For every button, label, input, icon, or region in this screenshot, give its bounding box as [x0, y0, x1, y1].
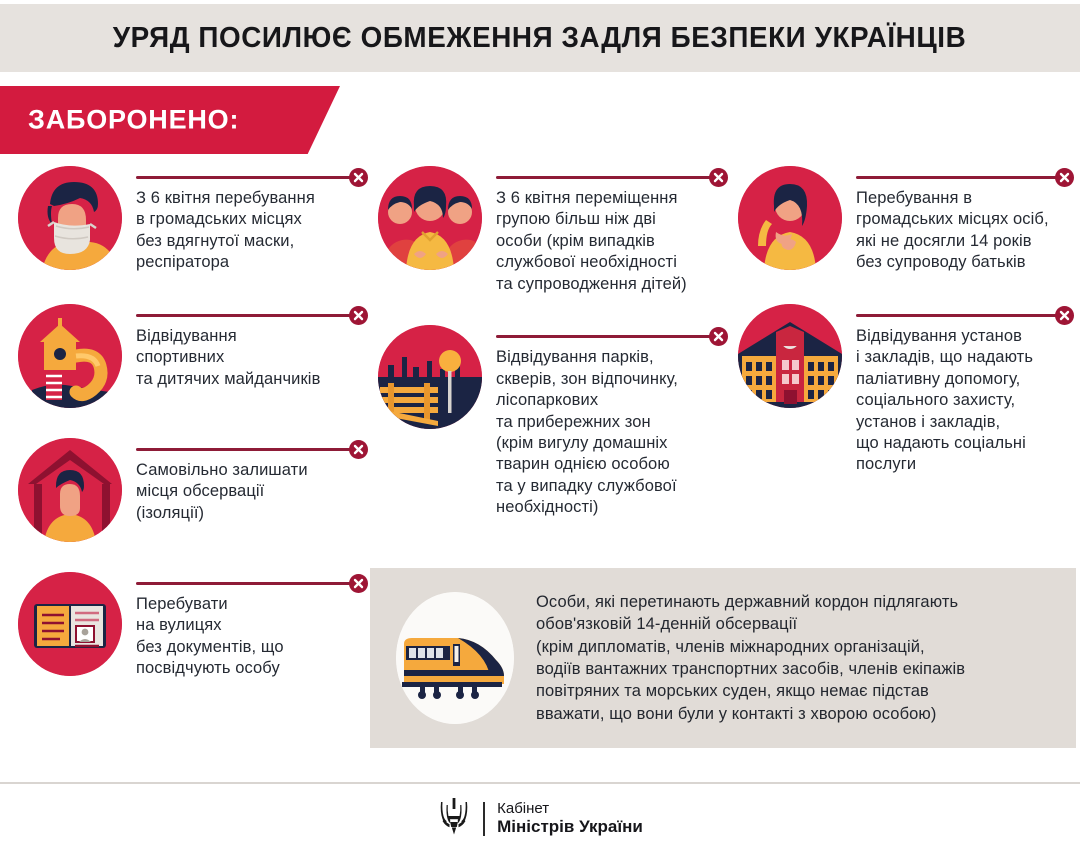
- institution-building-icon: [738, 304, 842, 408]
- item-text: Самовільно залишати місця обсервації (із…: [136, 460, 368, 524]
- item-body: Відвідування спортивних та дитячих майда…: [122, 304, 368, 390]
- list-item: З 6 квітня перебування в громадських міс…: [18, 166, 368, 274]
- list-item: Відвідування парків, скверів, зон відпоч…: [378, 325, 728, 519]
- item-body: Відвідування установ і закладів, що нада…: [842, 304, 1074, 476]
- item-body: Перебувати на вулицях без документів, що…: [122, 572, 368, 680]
- rule-line: [496, 335, 714, 338]
- person-wearing-mask-icon: [18, 166, 122, 270]
- item-text: Перебування в громадських місцях осіб, я…: [856, 188, 1074, 274]
- close-icon: [709, 327, 728, 346]
- item-body: Перебування в громадських місцях осіб, я…: [842, 166, 1074, 274]
- footer-line-2: Міністрів України: [497, 817, 643, 836]
- id-document-icon: [18, 572, 122, 676]
- footer-line-1: Кабінет: [497, 801, 643, 818]
- item-body: З 6 квітня перебування в громадських міс…: [122, 166, 368, 274]
- train-icon: [396, 592, 514, 724]
- page-title: УРЯД ПОСИЛЮЄ ОБМЕЖЕННЯ ЗАДЛЯ БЕЗПЕКИ УКР…: [113, 22, 966, 55]
- list-item: Перебувати на вулицях без документів, що…: [18, 572, 368, 680]
- column-1: З 6 квітня перебування в громадських міс…: [18, 166, 368, 680]
- item-text: З 6 квітня перебування в громадських міс…: [136, 188, 368, 274]
- item-rule: [856, 306, 1074, 324]
- list-item: Перебування в громадських місцях осіб, я…: [738, 166, 1074, 274]
- footer: Кабінет Міністрів України: [0, 790, 1080, 847]
- border-crossing-banner: Особи, які перетинають державний кордон …: [370, 568, 1076, 748]
- item-rule: [136, 168, 368, 186]
- item-text: Перебувати на вулицях без документів, що…: [136, 594, 368, 680]
- close-icon: [1055, 306, 1074, 325]
- park-bench-icon: [378, 325, 482, 429]
- footer-logo-text: Кабінет Міністрів України: [497, 801, 643, 837]
- list-item: Відвідування установ і закладів, що нада…: [738, 304, 1074, 476]
- item-rule: [136, 574, 368, 592]
- list-item: З 6 квітня переміщення групою більш ніж …: [378, 166, 728, 295]
- child-icon: [738, 166, 842, 270]
- footer-vertical-divider: [483, 802, 485, 836]
- close-icon: [1055, 168, 1074, 187]
- close-icon: [709, 168, 728, 187]
- header-band: УРЯД ПОСИЛЮЄ ОБМЕЖЕННЯ ЗАДЛЯ БЕЗПЕКИ УКР…: [0, 4, 1080, 72]
- item-rule: [136, 306, 368, 324]
- rule-line: [136, 448, 354, 451]
- list-item: Самовільно залишати місця обсервації (із…: [18, 438, 368, 542]
- item-text: Відвідування установ і закладів, що нада…: [856, 326, 1074, 476]
- rule-line: [136, 314, 354, 317]
- close-icon: [349, 574, 368, 593]
- rule-line: [856, 314, 1060, 317]
- item-rule: [496, 168, 728, 186]
- close-icon: [349, 440, 368, 459]
- rule-line: [496, 176, 714, 179]
- item-text: З 6 квітня переміщення групою більш ніж …: [496, 188, 728, 295]
- item-rule: [496, 327, 728, 345]
- rule-line: [136, 582, 354, 585]
- item-rule: [856, 168, 1074, 186]
- forbidden-badge: ЗАБОРОНЕНО:: [0, 86, 340, 154]
- footer-divider-line: [0, 782, 1080, 784]
- badge-label: ЗАБОРОНЕНО:: [28, 105, 239, 136]
- item-text: Відвідування спортивних та дитячих майда…: [136, 326, 368, 390]
- playground-icon: [18, 304, 122, 408]
- column-2: З 6 квітня переміщення групою більш ніж …: [378, 166, 728, 519]
- item-body: Самовільно залишати місця обсервації (із…: [122, 438, 368, 524]
- rule-line: [136, 176, 354, 179]
- item-body: З 6 квітня переміщення групою більш ніж …: [482, 166, 728, 295]
- close-icon: [349, 306, 368, 325]
- person-leaving-house-icon: [18, 438, 122, 542]
- list-item: Відвідування спортивних та дитячих майда…: [18, 304, 368, 408]
- banner-text: Особи, які перетинають державний кордон …: [514, 591, 1076, 726]
- item-text: Відвідування парків, скверів, зон відпоч…: [496, 347, 728, 519]
- ukraine-trident-icon: [437, 796, 471, 841]
- rule-line: [856, 176, 1060, 179]
- close-icon: [349, 168, 368, 187]
- item-body: Відвідування парків, скверів, зон відпоч…: [482, 325, 728, 519]
- column-3: Перебування в громадських місцях осіб, я…: [738, 166, 1074, 476]
- item-rule: [136, 440, 368, 458]
- group-of-people-icon: [378, 166, 482, 270]
